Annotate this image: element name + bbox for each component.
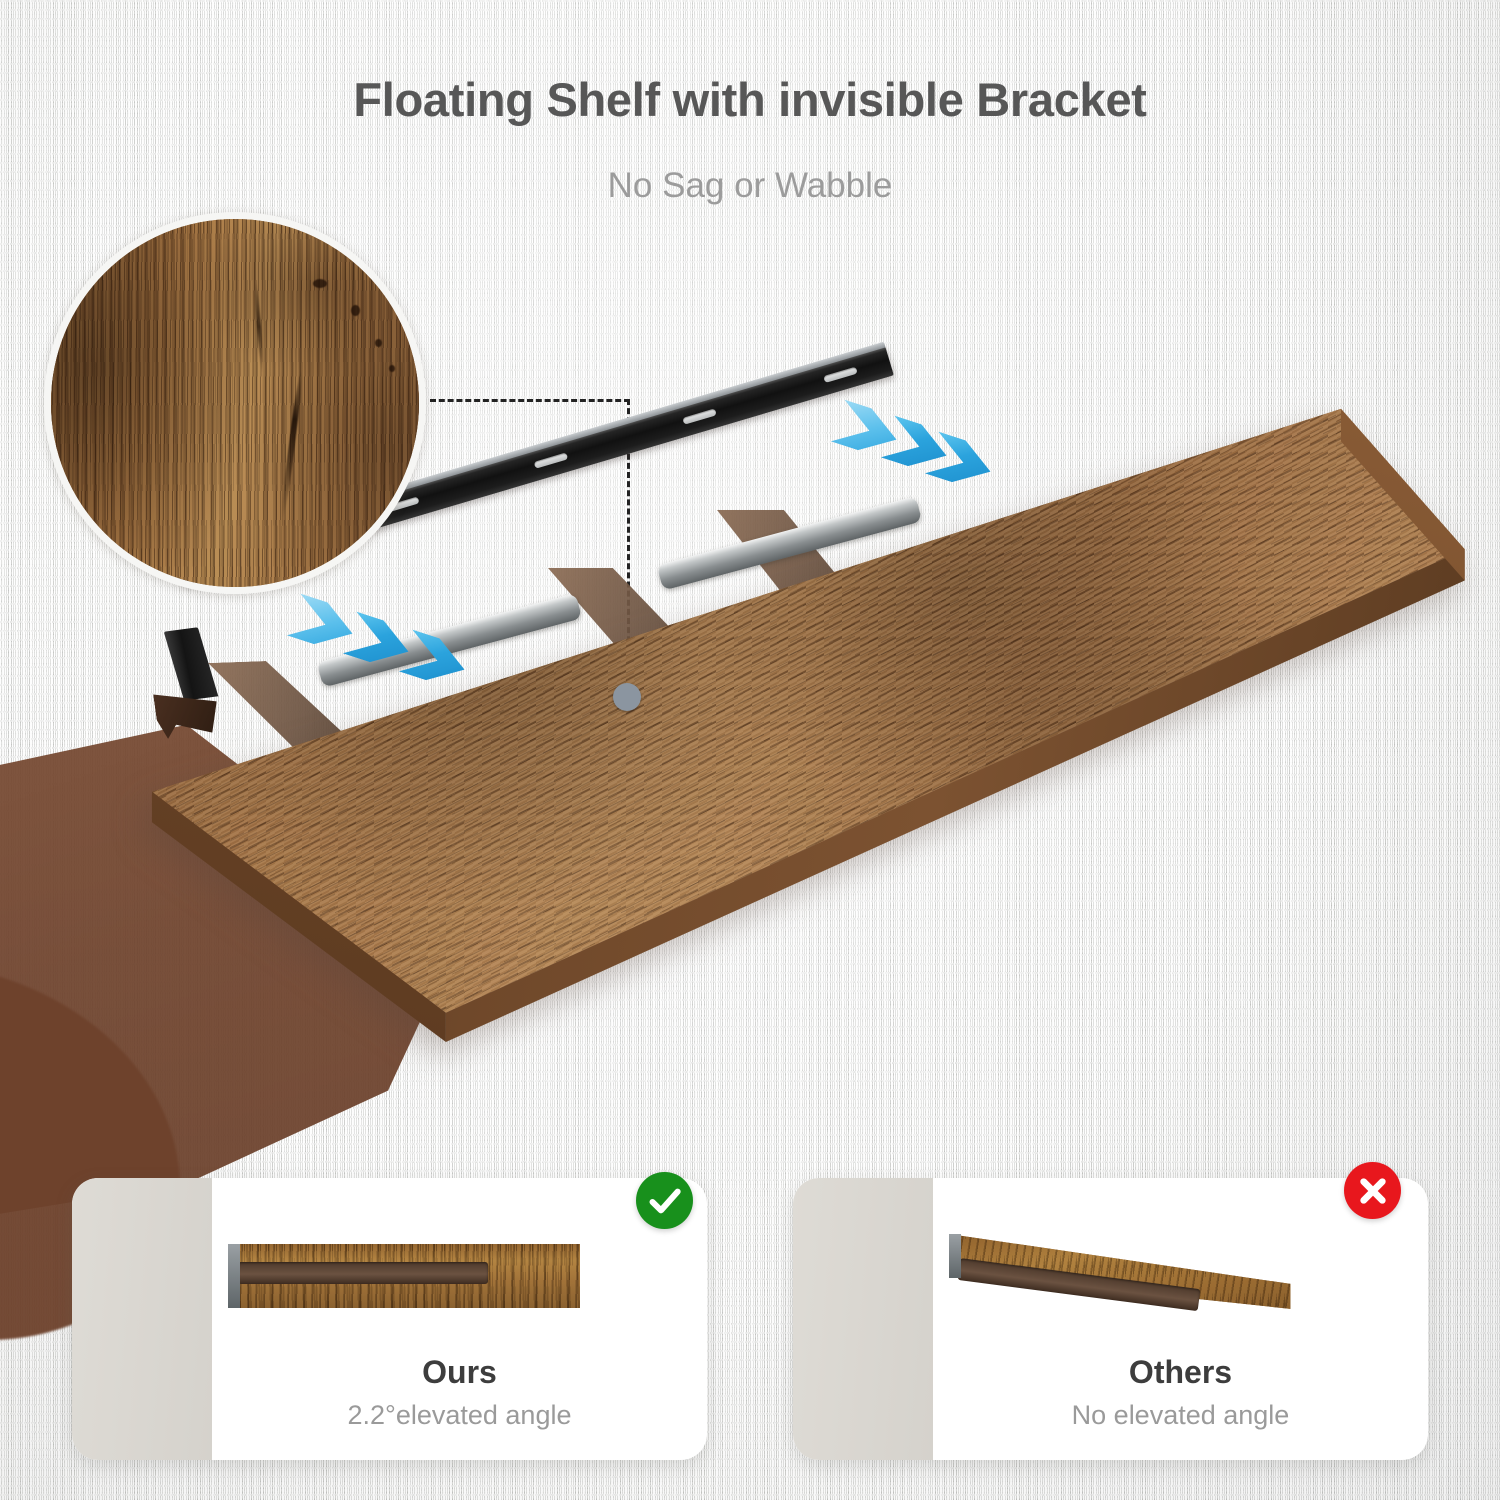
- wood-speck: [351, 305, 360, 316]
- wood-speck: [313, 279, 327, 288]
- card-label-ours: Ours: [212, 1354, 707, 1391]
- mini-shelf-wall-cap: [949, 1234, 961, 1278]
- card-illustration-ours: [212, 1178, 707, 1348]
- cross-icon: [1344, 1162, 1401, 1219]
- bracket-screw-slot: [823, 367, 858, 383]
- page-title: Floating Shelf with invisible Bracket: [0, 72, 1500, 127]
- wood-grain-texture: [51, 219, 419, 587]
- comparison-section: Ours 2.2°elevated angle Others No elevat…: [0, 1178, 1500, 1478]
- mini-shelf-wall-cap: [228, 1244, 240, 1308]
- wood-grain-closeup-inset: [44, 212, 426, 594]
- card-wall-strip: [72, 1178, 212, 1460]
- comparison-card-others[interactable]: Others No elevated angle: [793, 1178, 1428, 1460]
- card-label-others: Others: [933, 1354, 1428, 1391]
- infographic-canvas: Floating Shelf with invisible Bracket No…: [0, 0, 1500, 1500]
- mini-shelf-level: [228, 1244, 580, 1308]
- comparison-card-ours[interactable]: Ours 2.2°elevated angle: [72, 1178, 707, 1460]
- callout-target-dot: [613, 683, 641, 711]
- mini-shelf-sagging: [949, 1234, 1301, 1330]
- check-icon: [636, 1172, 693, 1229]
- mini-shelf-bracket-slot: [238, 1262, 488, 1284]
- page-subtitle: No Sag or Wabble: [0, 166, 1500, 206]
- card-sublabel-others: No elevated angle: [933, 1400, 1428, 1431]
- card-wall-strip: [793, 1178, 933, 1460]
- wood-speck: [375, 339, 382, 347]
- card-sublabel-ours: 2.2°elevated angle: [212, 1400, 707, 1431]
- wood-speck: [389, 365, 395, 372]
